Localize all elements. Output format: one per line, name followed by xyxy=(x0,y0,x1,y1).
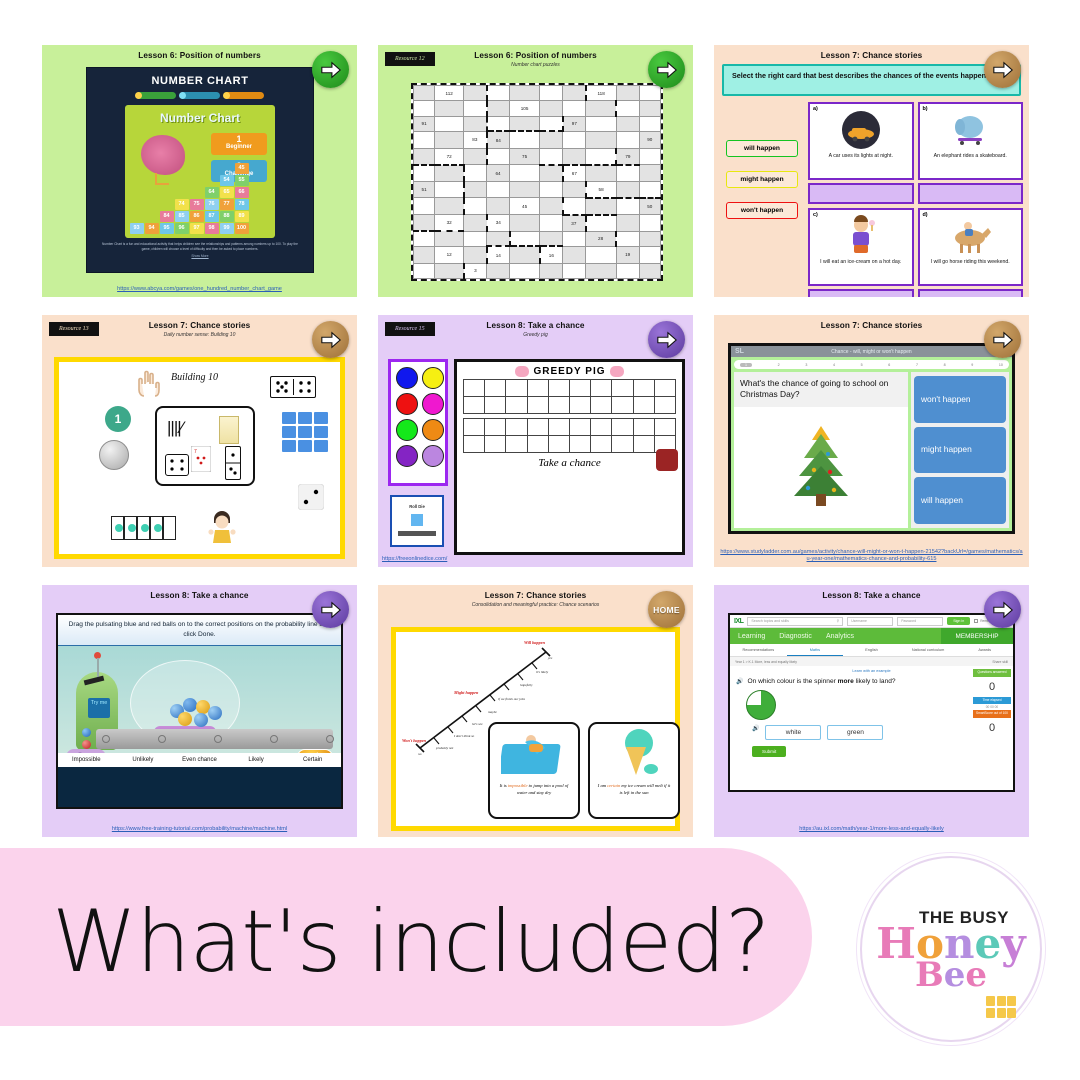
pager-item[interactable]: 10 xyxy=(999,363,1003,367)
share-skill-link[interactable]: Share skill xyxy=(992,660,1008,664)
puzzle-cell[interactable] xyxy=(414,231,435,246)
number-cell[interactable]: 74 xyxy=(175,199,189,210)
puzzle-cell[interactable] xyxy=(414,263,435,278)
puzzle-cell[interactable] xyxy=(510,165,540,182)
puzzle-cell[interactable]: 50 xyxy=(639,198,660,215)
puzzle-cell[interactable] xyxy=(586,131,617,148)
puzzle-cell[interactable] xyxy=(616,263,639,278)
ixl-subject-tabs[interactable]: Recommendations Maths English National c… xyxy=(730,644,1013,657)
puzzle-cell[interactable] xyxy=(510,86,540,101)
puzzle-cell[interactable]: 28 xyxy=(586,231,617,246)
puzzle-cell[interactable] xyxy=(540,231,563,246)
puzzle-cell[interactable] xyxy=(540,131,563,148)
puzzle-cell[interactable] xyxy=(435,116,464,131)
puzzle-cell[interactable]: 16 xyxy=(540,246,563,263)
puzzle-cell[interactable]: 3 xyxy=(464,263,487,278)
number-cell[interactable]: 89 xyxy=(235,211,249,222)
puzzle-cell[interactable] xyxy=(586,198,617,215)
board-cell[interactable] xyxy=(506,419,527,436)
puzzle-cell[interactable] xyxy=(510,263,540,278)
level-pills[interactable] xyxy=(87,92,313,99)
puzzle-cell[interactable] xyxy=(586,215,617,232)
pill-beginner[interactable] xyxy=(136,92,176,99)
pill-explore[interactable] xyxy=(180,92,220,99)
puzzle-cell[interactable] xyxy=(540,86,563,101)
next-arrow-button[interactable] xyxy=(312,51,349,88)
board-cell[interactable] xyxy=(464,397,485,414)
puzzle-cell[interactable]: 84 xyxy=(487,131,510,148)
question-card-d[interactable]: d) I will go horse riding this weekend. xyxy=(918,208,1024,286)
puzzle-cell[interactable]: 91 xyxy=(414,116,435,131)
next-arrow-button[interactable] xyxy=(648,51,685,88)
dice-roll-button[interactable] xyxy=(398,531,436,536)
board-cell[interactable] xyxy=(633,436,654,453)
pill-challenge[interactable] xyxy=(224,92,264,99)
puzzle-cell[interactable] xyxy=(487,198,510,215)
board-cell[interactable] xyxy=(654,397,675,414)
puzzle-cell[interactable] xyxy=(616,198,639,215)
puzzle-cell[interactable]: 72 xyxy=(435,148,464,165)
puzzle-cell[interactable]: 45 xyxy=(510,198,540,215)
puzzle-cell[interactable] xyxy=(540,165,563,182)
tally-marks-icon: ||||⁄ xyxy=(167,418,183,438)
puzzle-cell[interactable] xyxy=(616,165,639,182)
tab-maths[interactable]: Maths xyxy=(787,644,844,656)
pager-item[interactable]: 3 xyxy=(805,363,807,367)
puzzle-cell[interactable] xyxy=(414,198,435,215)
chip-wont-happen[interactable]: won't happen xyxy=(726,202,798,219)
option-green[interactable]: green xyxy=(827,725,883,740)
number-cell[interactable]: 76 xyxy=(205,199,219,210)
pager-item[interactable]: 4 xyxy=(833,363,835,367)
puzzle-cell[interactable] xyxy=(540,181,563,198)
board-cell[interactable] xyxy=(633,380,654,397)
board-cell[interactable] xyxy=(548,380,569,397)
board-cell[interactable] xyxy=(527,436,548,453)
puzzle-cell[interactable] xyxy=(616,181,639,198)
pager-item[interactable]: 6 xyxy=(888,363,890,367)
puzzle-cell[interactable] xyxy=(639,148,660,165)
puzzle-cell[interactable] xyxy=(639,165,660,182)
slide-chance-scenarios[interactable]: Lesson 7: Chance stories Consolidation a… xyxy=(378,585,693,837)
board-cell[interactable] xyxy=(485,419,506,436)
puzzle-cell[interactable] xyxy=(414,246,435,263)
number-row: 646566 xyxy=(129,186,271,198)
number-cell[interactable]: 65 xyxy=(220,187,234,198)
blue-ball-draggable[interactable] xyxy=(82,728,91,737)
number-cell[interactable]: 88 xyxy=(220,211,234,222)
next-arrow-button[interactable] xyxy=(984,591,1021,628)
board-cell[interactable] xyxy=(464,380,485,397)
number-cell[interactable]: 77 xyxy=(220,199,234,210)
slide-probability-machine[interactable]: Lesson 8: Take a chance Drag the pulsati… xyxy=(42,585,357,837)
puzzle-cell[interactable] xyxy=(540,263,563,278)
puzzle-cell[interactable] xyxy=(639,246,660,263)
answer-slot-b[interactable] xyxy=(918,183,1024,204)
chance-word-chips[interactable]: will happen might happen won't happen xyxy=(726,140,798,233)
question-letter: d) xyxy=(923,212,928,218)
puzzle-cell[interactable] xyxy=(510,246,540,263)
puzzle-cell[interactable] xyxy=(563,101,586,116)
puzzle-cell[interactable] xyxy=(487,101,510,116)
password-field[interactable]: Password xyxy=(897,617,943,626)
instruction-banner: Select the right card that best describe… xyxy=(722,64,1021,96)
chip-will-happen[interactable]: will happen xyxy=(726,140,798,157)
pager-item[interactable]: 9 xyxy=(971,363,973,367)
puzzle-cell[interactable] xyxy=(435,181,464,198)
number-cell[interactable]: 84 xyxy=(160,211,174,222)
nav-analytics[interactable]: Analytics xyxy=(826,633,854,640)
try-me-button[interactable]: Try me xyxy=(88,698,110,718)
submit-button[interactable]: Submit xyxy=(752,746,786,757)
puzzle-cell[interactable] xyxy=(540,198,563,215)
source-url[interactable]: https://www.free-training-tutorial.com/p… xyxy=(42,826,357,834)
answer-pane[interactable]: won't happen might happen will happen xyxy=(911,372,1009,528)
answer-will-happen[interactable]: will happen xyxy=(914,477,1006,524)
puzzle-cell[interactable] xyxy=(540,116,563,131)
show-more-link[interactable]: Show More xyxy=(87,254,313,258)
board-cell[interactable] xyxy=(485,397,506,414)
puzzle-cell[interactable] xyxy=(586,263,617,278)
puzzle-cell[interactable]: 67 xyxy=(563,165,586,182)
sign-in-button[interactable]: Sign in xyxy=(947,617,970,625)
puzzle-cell[interactable] xyxy=(464,101,487,116)
puzzle-cell[interactable] xyxy=(487,86,510,101)
puzzle-grid[interactable]: 1121181059197838490727579646751584550323… xyxy=(411,83,663,281)
board-cell[interactable] xyxy=(527,419,548,436)
next-arrow-button[interactable] xyxy=(312,321,349,358)
tab-national-curriculum[interactable]: National curriculum xyxy=(900,644,957,656)
search-input[interactable]: Search topics and skills ⚲ xyxy=(747,617,843,626)
slide-studyladder-chance[interactable]: Lesson 7: Chance stories SL Chance - wil… xyxy=(714,315,1029,567)
machine-knob-icon[interactable] xyxy=(94,652,101,659)
puzzle-cell[interactable] xyxy=(586,246,617,263)
nav-diagnostic[interactable]: Diagnostic xyxy=(779,633,812,640)
number-cell[interactable]: 87 xyxy=(205,211,219,222)
puzzle-cell[interactable] xyxy=(414,215,435,232)
board-cell[interactable] xyxy=(464,436,485,453)
puzzle-cell[interactable] xyxy=(510,116,540,131)
puzzle-cell[interactable]: 118 xyxy=(586,86,617,101)
number-cell[interactable]: 85 xyxy=(175,211,189,222)
pager-item[interactable]: 2 xyxy=(778,363,780,367)
puzzle-cell[interactable] xyxy=(639,86,660,101)
slide-number-chart[interactable]: Lesson 6: Position of numbers NUMBER CHA… xyxy=(42,45,357,297)
puzzle-cell[interactable] xyxy=(487,116,510,131)
home-button[interactable]: HOME xyxy=(648,591,685,628)
speaker-icon-options[interactable]: 🔊 xyxy=(752,725,759,740)
board-cell[interactable] xyxy=(569,419,590,436)
puzzle-cell[interactable] xyxy=(510,131,540,148)
number-cell[interactable]: 45 xyxy=(235,163,249,174)
membership-button[interactable]: MEMBERSHIP xyxy=(941,628,1013,644)
puzzle-cell[interactable] xyxy=(414,86,435,101)
scenario-caption-icecream: I am certain my ice cream will melt if i… xyxy=(590,782,678,796)
puzzle-cell[interactable] xyxy=(510,231,540,246)
board-heading-text: GREEDY PIG xyxy=(533,366,605,377)
puzzle-cell[interactable] xyxy=(464,198,487,215)
slide-greedy-pig[interactable]: Resource 15 Lesson 8: Take a chance Gree… xyxy=(378,315,693,567)
puzzle-cell[interactable] xyxy=(563,198,586,215)
number-cell[interactable]: 54 xyxy=(220,175,234,186)
answer-slot-c[interactable] xyxy=(808,289,914,297)
board-cell[interactable] xyxy=(548,397,569,414)
puzzle-cell[interactable] xyxy=(540,215,563,232)
board-cell[interactable] xyxy=(485,380,506,397)
number-cell[interactable]: 99 xyxy=(220,223,234,234)
board-cell[interactable] xyxy=(506,380,527,397)
puzzle-cell[interactable] xyxy=(464,246,487,263)
question-card-a[interactable]: a) A car uses its lights at night. xyxy=(808,102,914,180)
puzzle-cell[interactable] xyxy=(639,263,660,278)
slide-chance-select-card[interactable]: Lesson 7: Chance stories Select the righ… xyxy=(714,45,1029,297)
nav-learning[interactable]: Learning xyxy=(738,633,765,640)
source-url[interactable]: https://freeonlinedice.com/ xyxy=(378,556,693,564)
score-table-top[interactable] xyxy=(463,379,676,414)
puzzle-cell[interactable] xyxy=(540,101,563,116)
dice-roller-widget[interactable]: Roll Die xyxy=(390,495,444,547)
board-cell[interactable] xyxy=(591,436,612,453)
puzzle-cell[interactable] xyxy=(464,215,487,232)
board-cell[interactable] xyxy=(612,436,633,453)
board-cell[interactable] xyxy=(654,419,675,436)
tab-recommendations[interactable]: Recommendations xyxy=(730,644,787,656)
probability-machine-app[interactable]: Drag the pulsating blue and red balls on… xyxy=(56,613,343,809)
puzzle-cell[interactable] xyxy=(639,116,660,131)
red-ball-draggable[interactable] xyxy=(82,740,91,749)
puzzle-cell[interactable] xyxy=(639,181,660,198)
puzzle-cell[interactable] xyxy=(639,231,660,246)
puzzle-cell[interactable] xyxy=(616,116,639,131)
board-cell[interactable] xyxy=(527,380,548,397)
puzzle-cell[interactable] xyxy=(435,101,464,116)
arrow-right-icon xyxy=(992,59,1014,81)
puzzle-cell[interactable] xyxy=(616,101,639,116)
puzzle-cell[interactable]: 34 xyxy=(487,215,510,232)
puzzle-cell[interactable] xyxy=(435,165,464,182)
ixl-navbar[interactable]: Learning Diagnostic Analytics MEMBERSHIP xyxy=(730,628,1013,644)
board-cell[interactable] xyxy=(569,380,590,397)
answer-wont-happen[interactable]: won't happen xyxy=(914,376,1006,423)
puzzle-cell[interactable] xyxy=(435,198,464,215)
puzzle-cell[interactable] xyxy=(435,263,464,278)
puzzle-cell[interactable] xyxy=(464,116,487,131)
chip-might-happen[interactable]: might happen xyxy=(726,171,798,188)
option-white[interactable]: white xyxy=(765,725,821,740)
board-cell[interactable] xyxy=(548,419,569,436)
speaker-icon[interactable]: 🔊 xyxy=(736,678,743,685)
pager-item[interactable]: 5 xyxy=(861,363,863,367)
board-cell[interactable] xyxy=(633,397,654,414)
number-cell[interactable]: 98 xyxy=(205,223,219,234)
board-cell[interactable] xyxy=(569,397,590,414)
source-url[interactable]: https://au.ixl.com/math/year-1/more-less… xyxy=(714,826,1029,834)
boy-icecream-icon xyxy=(813,213,909,259)
colour-counter[interactable] xyxy=(396,419,418,441)
studyladder-window[interactable]: SL Chance - will, might or won't happen … xyxy=(728,343,1015,534)
puzzle-cell[interactable] xyxy=(586,148,617,165)
puzzle-cell[interactable] xyxy=(487,231,510,246)
board-cell[interactable] xyxy=(527,397,548,414)
source-url[interactable]: https://www.abcya.com/games/one_hundred_… xyxy=(42,286,357,294)
board-cell[interactable] xyxy=(485,436,506,453)
puzzle-cell[interactable] xyxy=(586,165,617,182)
board-cell[interactable] xyxy=(591,419,612,436)
puzzle-cell[interactable] xyxy=(435,231,464,246)
puzzle-cell[interactable]: 51 xyxy=(414,181,435,198)
next-arrow-button[interactable] xyxy=(984,321,1021,358)
scenario-card-icecream: I am certain my ice cream will melt if i… xyxy=(588,722,680,819)
pager-item[interactable]: 8 xyxy=(944,363,946,367)
next-arrow-button[interactable] xyxy=(648,321,685,358)
colour-counter[interactable] xyxy=(396,367,418,389)
number-cell[interactable]: 86 xyxy=(190,211,204,222)
question-card-c[interactable]: c) I will eat an ice-cream on a hot day. xyxy=(808,208,914,286)
puzzle-cell[interactable]: 37 xyxy=(563,215,586,232)
puzzle-cell[interactable]: 79 xyxy=(616,148,639,165)
colour-counter[interactable] xyxy=(422,419,444,441)
puzzle-cell[interactable]: 58 xyxy=(586,181,617,198)
number-cell[interactable]: 100 xyxy=(235,223,249,234)
number-cell[interactable]: 75 xyxy=(190,199,204,210)
source-url[interactable]: https://www.studyladder.com.au/games/act… xyxy=(714,549,1029,564)
next-arrow-button[interactable] xyxy=(312,591,349,628)
board-cell[interactable] xyxy=(612,380,633,397)
number-cell[interactable]: 95 xyxy=(160,223,174,234)
slide-ixl-spinner[interactable]: Lesson 8: Take a chance IXL Search topic… xyxy=(714,585,1029,837)
puzzle-cell[interactable] xyxy=(464,231,487,246)
colour-counter-palette[interactable] xyxy=(388,359,448,486)
puzzle-cell[interactable] xyxy=(487,263,510,278)
score-table-bottom[interactable] xyxy=(463,418,676,453)
puzzle-cell[interactable] xyxy=(464,86,487,101)
abcya-game-screen[interactable]: NUMBER CHART Number Chart 1 Beginner 2 C… xyxy=(86,67,314,273)
puzzle-cell[interactable]: 112 xyxy=(435,86,464,101)
puzzle-cell[interactable] xyxy=(435,131,464,148)
question-card-b[interactable]: b) An elephant rides a skateboard. xyxy=(918,102,1024,180)
board-cell[interactable] xyxy=(654,380,675,397)
number-steps: 4554556465667475767778848586878889939495… xyxy=(129,162,271,234)
pager-item[interactable]: 1 xyxy=(740,363,752,367)
puzzle-cell[interactable] xyxy=(563,148,586,165)
ixl-window[interactable]: IXL Search topics and skills ⚲ Username … xyxy=(728,613,1015,792)
board-cell[interactable] xyxy=(506,436,527,453)
pager-item[interactable]: 7 xyxy=(916,363,918,367)
puzzle-cell[interactable] xyxy=(563,181,586,198)
puzzle-cell[interactable]: 19 xyxy=(616,246,639,263)
board-cell[interactable] xyxy=(548,436,569,453)
colour-counter[interactable] xyxy=(396,445,418,467)
puzzle-cell[interactable] xyxy=(639,101,660,116)
puzzle-cell[interactable]: 14 xyxy=(487,246,510,263)
puzzle-cell[interactable] xyxy=(414,165,435,182)
puzzle-cell[interactable] xyxy=(487,148,510,165)
puzzle-cell[interactable]: 105 xyxy=(510,101,540,116)
puzzle-cell[interactable] xyxy=(563,131,586,148)
board-cell[interactable] xyxy=(591,380,612,397)
puzzle-cell[interactable]: 83 xyxy=(464,131,487,148)
puzzle-cell[interactable] xyxy=(464,148,487,165)
time-elapsed-label: Time elapsed xyxy=(973,697,1011,705)
board-cell[interactable] xyxy=(612,419,633,436)
slide-number-chart-puzzles[interactable]: Resource 12 Lesson 6: Position of number… xyxy=(378,45,693,297)
colour-counter[interactable] xyxy=(422,367,444,389)
number-cell[interactable]: 94 xyxy=(145,223,159,234)
puzzle-cell[interactable] xyxy=(464,181,487,198)
puzzle-cell[interactable] xyxy=(586,101,617,116)
board-cell[interactable] xyxy=(464,419,485,436)
number-cell[interactable]: 97 xyxy=(190,223,204,234)
board-cell[interactable] xyxy=(506,397,527,414)
tab-english[interactable]: English xyxy=(843,644,900,656)
number-cell[interactable]: 55 xyxy=(235,175,249,186)
board-row xyxy=(464,419,676,436)
colour-counter[interactable] xyxy=(396,393,418,415)
puzzle-cell[interactable]: 75 xyxy=(510,148,540,165)
number-cell[interactable]: 78 xyxy=(235,199,249,210)
puzzle-cell[interactable] xyxy=(639,215,660,232)
puzzle-cell[interactable] xyxy=(563,86,586,101)
puzzle-cell[interactable] xyxy=(510,215,540,232)
probability-line-track[interactable] xyxy=(96,729,333,749)
slide-building-10[interactable]: Resource 13 Lesson 7: Chance stories Dai… xyxy=(42,315,357,567)
number-cell[interactable]: 64 xyxy=(205,187,219,198)
puzzle-cell[interactable]: 64 xyxy=(487,165,510,182)
board-cell[interactable] xyxy=(612,397,633,414)
puzzle-cell[interactable] xyxy=(616,231,639,246)
puzzle-cell[interactable] xyxy=(510,181,540,198)
game-blurb: Number Chart is a fun and educational ac… xyxy=(87,238,313,252)
puzzle-cell[interactable] xyxy=(616,131,639,148)
number-cell[interactable]: 93 xyxy=(130,223,144,234)
puzzle-cell[interactable] xyxy=(563,263,586,278)
answer-slot-d[interactable] xyxy=(918,289,1024,297)
number-cell[interactable]: 66 xyxy=(235,187,249,198)
machine-stage[interactable]: Try me Done Help xyxy=(58,646,341,767)
puzzle-cell[interactable] xyxy=(464,165,487,182)
puzzle-cell[interactable] xyxy=(487,181,510,198)
answer-might-happen[interactable]: might happen xyxy=(914,427,1006,474)
colour-counter[interactable] xyxy=(422,393,444,415)
puzzle-cell[interactable] xyxy=(414,131,435,148)
puzzle-cell[interactable] xyxy=(616,215,639,232)
board-cell[interactable] xyxy=(633,419,654,436)
answer-slot-a[interactable] xyxy=(808,183,914,204)
username-field[interactable]: Username xyxy=(847,617,893,626)
next-arrow-button[interactable] xyxy=(984,51,1021,88)
puzzle-cell[interactable]: 97 xyxy=(563,116,586,131)
board-cell[interactable] xyxy=(569,436,590,453)
board-cell[interactable] xyxy=(591,397,612,414)
question-pager[interactable]: 12345678910 xyxy=(734,360,1009,369)
colour-counter[interactable] xyxy=(422,445,444,467)
number-cell[interactable]: 96 xyxy=(175,223,189,234)
puzzle-cell[interactable]: 90 xyxy=(639,131,660,148)
puzzle-cell[interactable]: 12 xyxy=(435,246,464,263)
puzzle-cell[interactable] xyxy=(540,148,563,165)
puzzle-cell[interactable]: 32 xyxy=(435,215,464,232)
puzzle-cell[interactable] xyxy=(616,86,639,101)
puzzle-cell[interactable] xyxy=(414,148,435,165)
puzzle-cell[interactable] xyxy=(586,116,617,131)
puzzle-cell[interactable] xyxy=(563,231,586,246)
tab-awards[interactable]: Awards xyxy=(956,644,1013,656)
search-icon: ⚲ xyxy=(837,619,840,623)
level-1-button[interactable]: 1 Beginner xyxy=(211,133,267,155)
spinner-chart xyxy=(746,690,776,720)
puzzle-cell[interactable] xyxy=(414,101,435,116)
puzzle-cell[interactable] xyxy=(563,246,586,263)
